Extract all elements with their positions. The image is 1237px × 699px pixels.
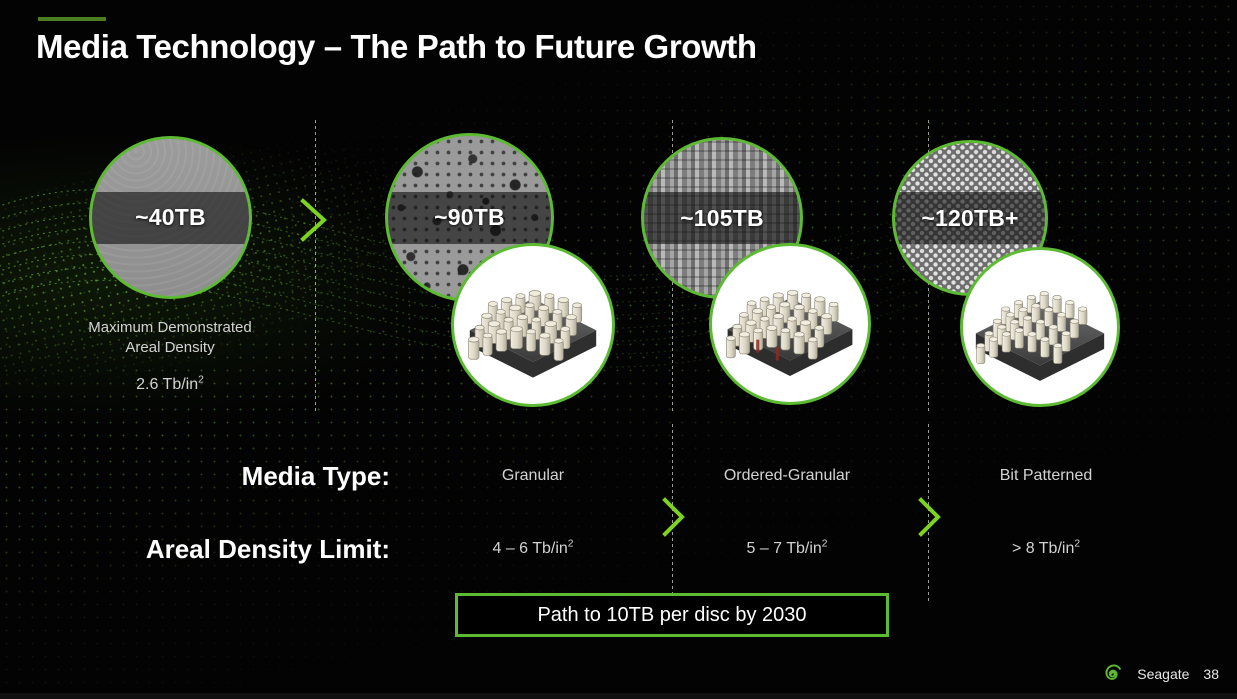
media-type-value-3: Ordered-Granular (672, 467, 902, 485)
caption-line-1: Maximum Demonstrated (55, 318, 285, 338)
media-type-value-2: Granular (418, 467, 648, 485)
chevron-icon-1 (297, 196, 331, 244)
capacity-band-4: ~120TB+ (895, 192, 1045, 244)
media-type-value-4: Bit Patterned (931, 467, 1161, 485)
brand-name: Seagate (1137, 666, 1189, 682)
capacity-band-1: ~40TB (92, 192, 249, 244)
seagate-spiral-logo-icon (1101, 663, 1123, 685)
page-number: 38 (1203, 666, 1219, 682)
footer: Seagate 38 (1101, 663, 1219, 685)
capacity-label-3: ~105TB (680, 205, 764, 232)
max-demonstrated-caption: Maximum Demonstrated Areal Density 2.6 T… (55, 318, 285, 394)
capacity-band-3: ~105TB (644, 192, 800, 244)
capacity-label-2: ~90TB (434, 204, 505, 231)
media-render-4[interactable] (960, 247, 1120, 407)
media-render-2[interactable] (451, 243, 615, 407)
areal-density-value-2: 4 – 6 Tb/in2 (418, 540, 648, 558)
callout-text: Path to 10TB per disc by 2030 (537, 604, 806, 627)
capacity-band-2: ~90TB (388, 192, 551, 244)
page-title: Media Technology – The Path to Future Gr… (36, 28, 757, 66)
areal-density-value-4: > 8 Tb/in2 (931, 540, 1161, 558)
title-accent-bar (38, 17, 106, 21)
row-label-media-type: Media Type: (40, 461, 390, 492)
media-render-3[interactable] (709, 243, 871, 405)
areal-density-value-3: 5 – 7 Tb/in2 (672, 540, 902, 558)
chevron-icon-2 (660, 495, 688, 539)
callout-box: Path to 10TB per disc by 2030 (455, 593, 889, 637)
capacity-label-1: ~40TB (135, 204, 206, 231)
caption-line-2: Areal Density (55, 338, 285, 358)
chevron-icon-3 (916, 495, 944, 539)
row-label-areal-density-limit: Areal Density Limit: (40, 534, 390, 565)
bottom-bar (0, 693, 1237, 699)
caption-value: 2.6 Tb/in2 (55, 376, 285, 394)
slide-canvas: Media Technology – The Path to Future Gr… (0, 0, 1237, 699)
column-divider-1-top (315, 120, 316, 412)
capacity-label-4: ~120TB+ (921, 205, 1018, 232)
media-circle-1[interactable]: ~40TB (89, 136, 252, 299)
